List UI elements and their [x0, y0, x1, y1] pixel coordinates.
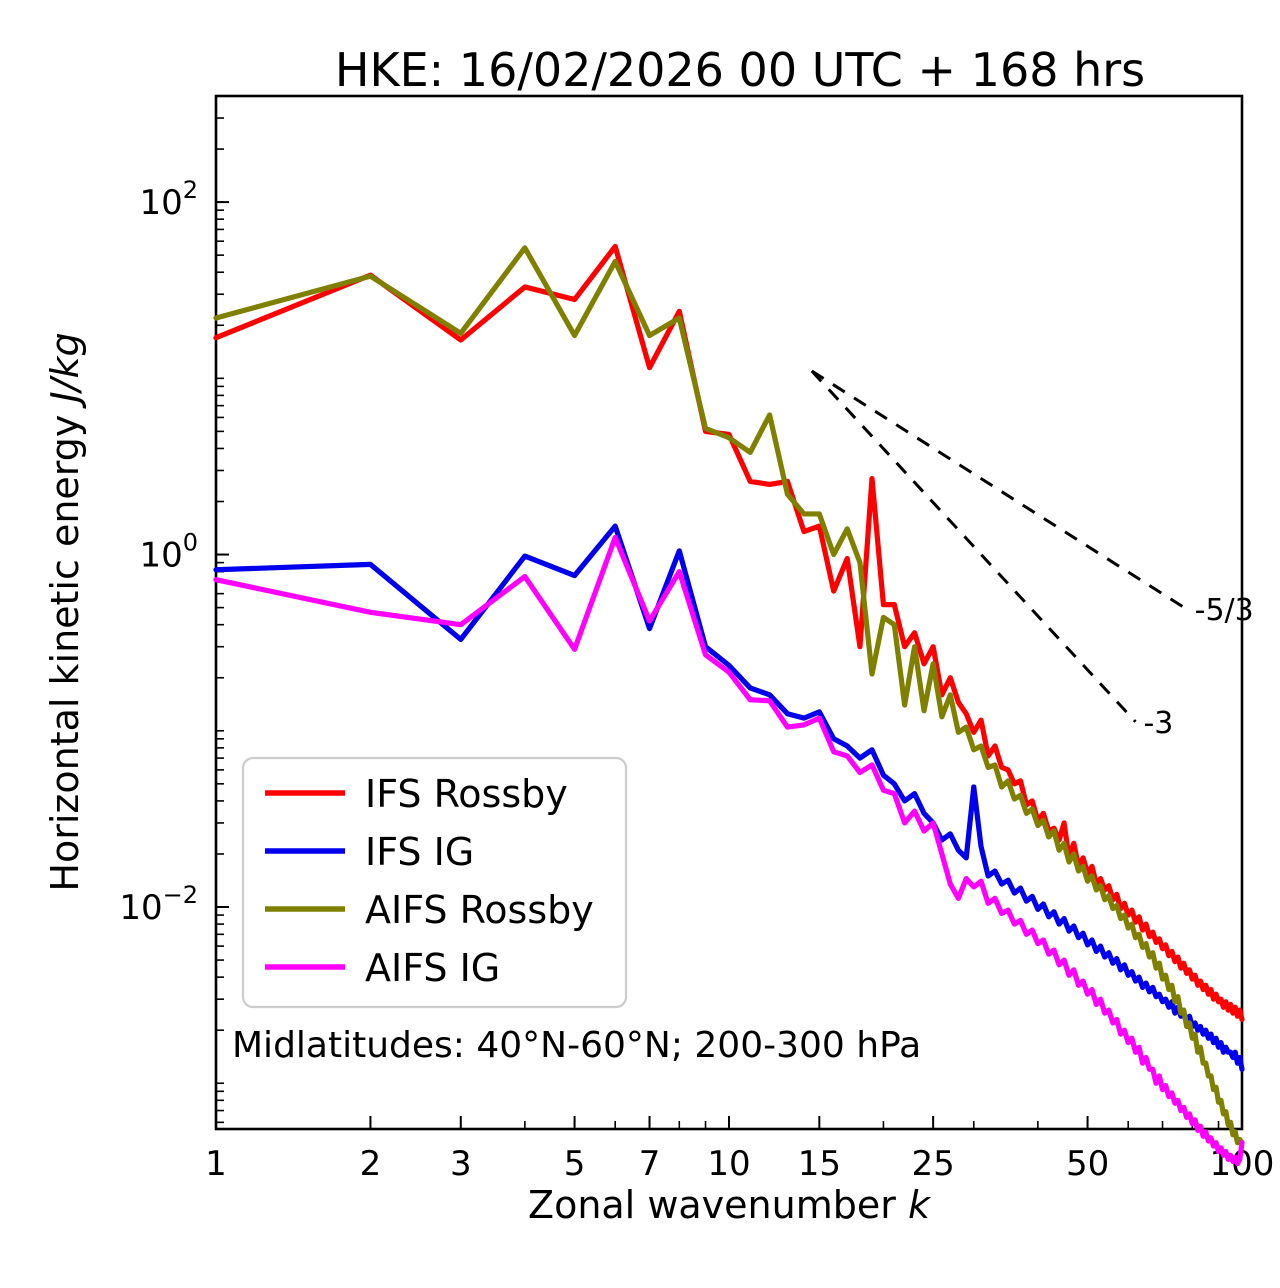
- x-tick-label: 5: [564, 1144, 586, 1184]
- legend-label-ifs-ig[interactable]: IFS IG: [365, 830, 474, 874]
- legend-label-aifs-rossby[interactable]: AIFS Rossby: [365, 888, 594, 932]
- hke-spectrum-plot: HKE: 16/02/2026 00 UTC + 168 hrs 1235710…: [0, 0, 1280, 1288]
- x-axis-label: Zonal wavenumber k: [528, 1183, 932, 1227]
- legend-label-aifs-ig[interactable]: AIFS IG: [365, 946, 500, 990]
- y-tick-label: 10−2: [119, 881, 198, 928]
- slope-reference-label: -5/3: [1195, 593, 1254, 628]
- x-tick-label: 7: [639, 1144, 661, 1184]
- x-axis-tick-labels: 1235710152550100: [205, 1144, 1274, 1184]
- legend[interactable]: IFS RossbyIFS IGAIFS RossbyAIFS IG: [243, 758, 626, 1007]
- y-axis-tick-labels: 10210010−2: [119, 176, 198, 928]
- x-tick-label: 50: [1066, 1144, 1109, 1184]
- x-tick-label: 10: [707, 1144, 750, 1184]
- y-tick-label: 100: [139, 529, 198, 576]
- x-tick-label: 1: [205, 1144, 227, 1184]
- figure-canvas: HKE: 16/02/2026 00 UTC + 168 hrs 1235710…: [0, 0, 1280, 1288]
- plot-title: HKE: 16/02/2026 00 UTC + 168 hrs: [335, 43, 1145, 97]
- slope-reference-label: -3: [1143, 706, 1173, 741]
- x-tick-label: 3: [450, 1144, 472, 1184]
- y-axis-ticks: [216, 96, 229, 1122]
- region-annotation: Midlatitudes: 40°N-60°N; 200-300 hPa: [232, 1025, 921, 1066]
- x-tick-label: 15: [798, 1144, 841, 1184]
- y-axis-label: Horizontal kinetic energy J/kg: [43, 332, 87, 891]
- x-axis-ticks: [216, 1116, 1242, 1129]
- y-tick-label: 102: [139, 176, 198, 223]
- x-tick-label: 2: [360, 1144, 382, 1184]
- x-tick-label: 25: [912, 1144, 955, 1184]
- legend-label-ifs-rossby[interactable]: IFS Rossby: [365, 772, 568, 816]
- series-line-aifs-rossby: [216, 248, 1242, 1143]
